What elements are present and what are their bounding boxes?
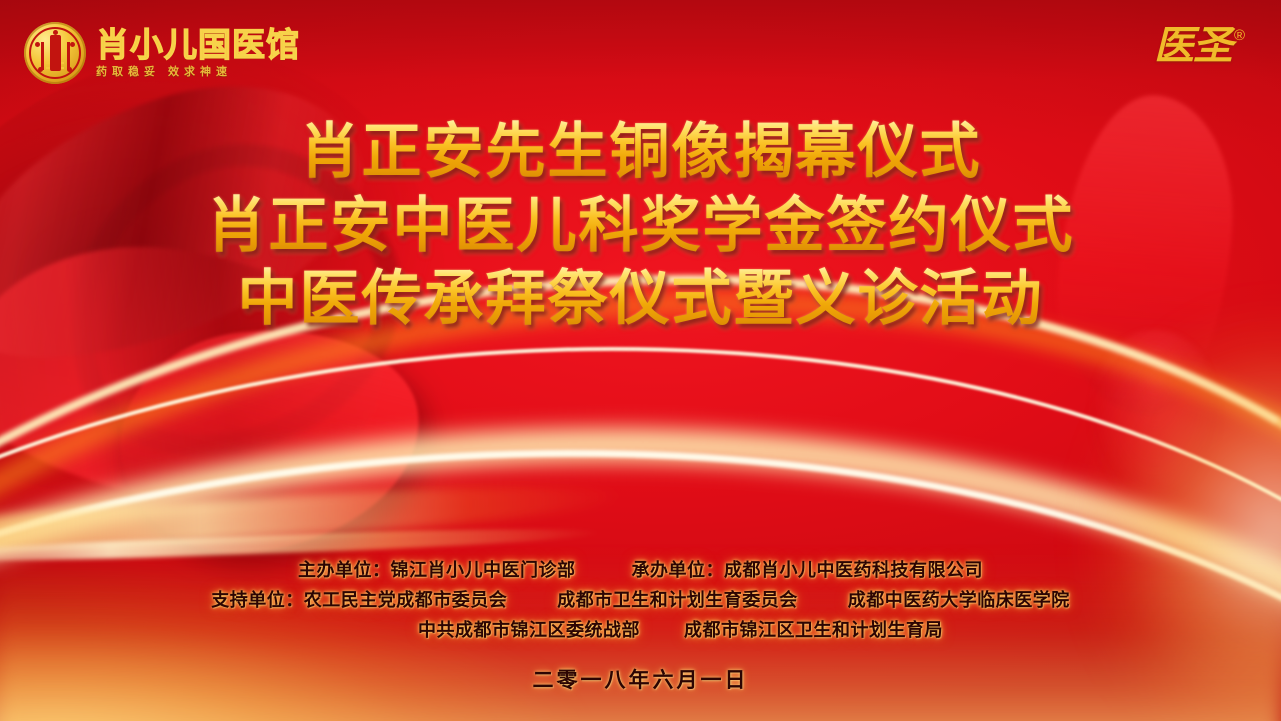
title-line-1: 肖正安先生铜像揭幕仪式 [0, 118, 1281, 188]
seal-dot [38, 67, 43, 72]
brand-logo-left: 肖小儿国医馆 药取稳妥 效求神速 [24, 22, 300, 84]
credit-supporter-5: 成都市锦江区卫生和计划生育局 [684, 616, 943, 642]
credit-row: 中共成都市锦江区委统战部 成都市锦江区卫生和计划生育局 [0, 616, 1281, 642]
gold-light-streak [0, 475, 621, 563]
calligraphy-mark: 医圣 [1154, 26, 1232, 66]
seal-dot [70, 42, 75, 47]
credit-supporter-3: 成都中医药大学临床医学院 [848, 586, 1070, 612]
seal-dot [67, 67, 72, 72]
title-line-2: 肖正安中医儿科奖学金签约仪式 [0, 192, 1281, 262]
event-date: 二零一八年六月一日 [0, 664, 1281, 694]
title-line-3: 中医传承拜祭仪式暨义诊活动 [0, 265, 1281, 335]
seal-dot [53, 30, 58, 35]
credit-organizer: 主办单位：锦江肖小儿中医门诊部 [298, 556, 576, 582]
event-date-text: 二零一八年六月一日 [533, 669, 749, 692]
circular-seal-emblem-icon [24, 22, 86, 84]
credits-block: 主办单位：锦江肖小儿中医门诊部 承办单位：成都肖小儿中医药科技有限公司 支持单位… [0, 556, 1281, 694]
credit-supporter-1: 支持单位：农工民主党成都市委员会 [211, 586, 507, 612]
main-title-block: 肖正安先生铜像揭幕仪式 肖正安中医儿科奖学金签约仪式 中医传承拜祭仪式暨义诊活动 [0, 118, 1281, 335]
brand-logo-right: 医圣 ® [1154, 26, 1245, 66]
silk-ribbon-shape [109, 315, 430, 565]
registered-trademark-icon: ® [1234, 28, 1245, 43]
event-banner: 肖小儿国医馆 药取稳妥 效求神速 医圣 ® 肖正安先生铜像揭幕仪式 肖正安中医儿… [0, 0, 1281, 721]
seal-dot [35, 42, 40, 47]
silk-ribbon-shape [1090, 330, 1220, 500]
credit-supporter-2: 成都市卫生和计划生育委员会 [557, 586, 798, 612]
credit-row: 主办单位：锦江肖小儿中医门诊部 承办单位：成都肖小儿中医药科技有限公司 [0, 556, 1281, 582]
brand-slogan: 药取稳妥 效求神速 [96, 63, 300, 79]
seal-bar [46, 67, 64, 69]
brand-wordmark: 肖小儿国医馆 [96, 28, 300, 61]
credit-supporter-4: 中共成都市锦江区委统战部 [418, 616, 640, 642]
seal-bar [46, 62, 64, 64]
credit-row: 支持单位：农工民主党成都市委员会 成都市卫生和计划生育委员会 成都中医药大学临床… [0, 586, 1281, 612]
credit-host: 承办单位：成都肖小儿中医药科技有限公司 [632, 556, 984, 582]
